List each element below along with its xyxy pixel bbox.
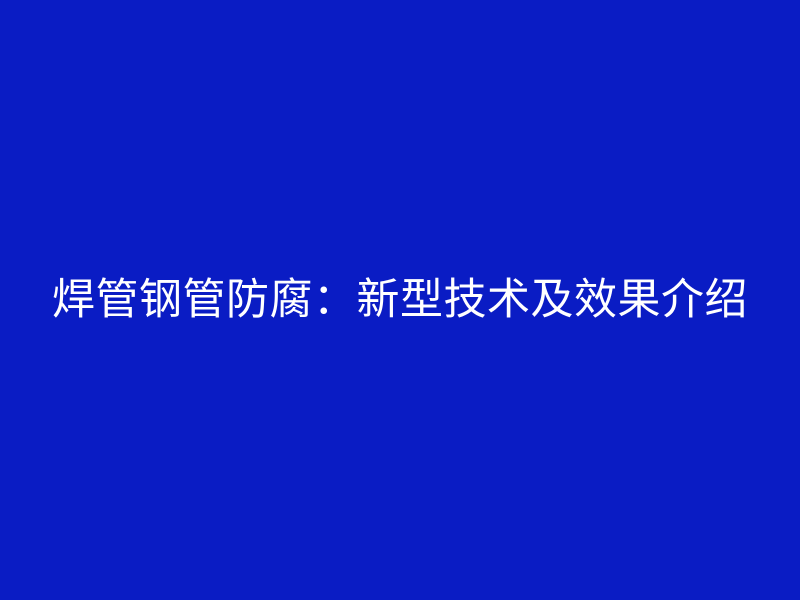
slide-title: 焊管钢管防腐：新型技术及效果介绍 bbox=[0, 277, 800, 324]
title-block: 焊管钢管防腐：新型技术及效果介绍 bbox=[0, 0, 800, 600]
title-slide: 焊管钢管防腐：新型技术及效果介绍 bbox=[0, 0, 800, 600]
